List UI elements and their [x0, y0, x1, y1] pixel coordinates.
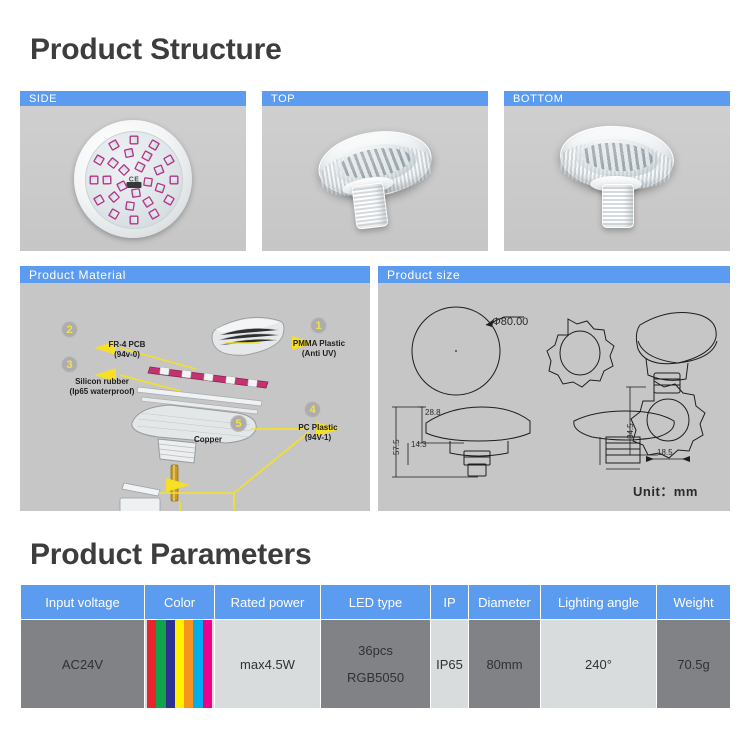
part-bottom-contacts — [120, 483, 160, 511]
material-label-silicon-rubber: Silicon rubber (Ip65 waterproof) — [44, 377, 160, 398]
value-color-swatches — [145, 620, 215, 709]
page-title-product-structure: Product Structure — [30, 33, 282, 67]
product-parameters-table: Input voltage Color Rated power LED type… — [20, 584, 731, 709]
panel-caption-side-label: SIDE — [29, 93, 57, 105]
led-chip — [162, 153, 174, 165]
size-drawing-graphics — [378, 283, 730, 511]
dimension-14-3: 14.3 — [411, 440, 427, 449]
side-elevation-drawing — [426, 407, 530, 476]
part-fr4-pcb — [148, 367, 268, 388]
panel-caption-product-material: Product Material — [20, 266, 370, 283]
column-header-input-voltage: Input voltage — [21, 585, 145, 620]
technical-drawing-panel: Φ80.00 57.5 28.8 14.3 34.5 18.5 Unit：mm — [378, 283, 730, 511]
column-header-color: Color — [145, 585, 215, 620]
color-swatch-4 — [175, 620, 184, 708]
value-input-voltage: AC24V — [21, 620, 145, 709]
led-puck-top-view — [316, 128, 436, 238]
panel-caption-material-label: Product Material — [29, 268, 126, 282]
dimension-18-5: 18.5 — [657, 448, 673, 457]
gear-ring-top-view — [547, 319, 614, 387]
value-led-model: RGB5050 — [323, 664, 428, 691]
led-disc-front-view: CE — [20, 106, 246, 251]
led-chip — [107, 191, 120, 204]
column-header-diameter: Diameter — [469, 585, 541, 620]
color-swatch-strip — [147, 620, 212, 708]
led-chip — [125, 201, 135, 211]
led-chip — [93, 193, 105, 205]
panel-caption-side: SIDE — [20, 91, 246, 106]
exploded-material-diagram: 1 2 3 4 5 PMMA Plastic (Anti UV) FR-4 PC… — [20, 283, 370, 511]
dimension-57-5: 57.5 — [392, 439, 401, 455]
color-swatch-1 — [147, 620, 156, 708]
perspective-puck-drawing — [636, 313, 717, 393]
page-title-product-parameters: Product Parameters — [30, 538, 312, 572]
led-chip — [129, 215, 138, 224]
puck-screw-stem — [351, 182, 388, 230]
led-chip — [123, 148, 134, 159]
led-chip — [93, 153, 105, 165]
value-rated-power: max4.5W — [215, 620, 321, 709]
led-chip — [102, 176, 111, 185]
panel-caption-size-label: Product size — [387, 268, 460, 282]
color-swatch-6 — [193, 620, 202, 708]
material-label-pmma: PMMA Plastic (Anti UV) — [269, 339, 369, 360]
color-swatch-2 — [156, 620, 165, 708]
color-swatch-7 — [203, 620, 212, 708]
column-header-ip: IP — [431, 585, 469, 620]
part-pc-housing — [132, 405, 256, 463]
led-chip — [142, 196, 154, 208]
panel-caption-top-label: TOP — [271, 93, 295, 105]
led-chip — [170, 175, 179, 184]
panel-caption-top: TOP — [262, 91, 488, 106]
column-header-rated-power: Rated power — [215, 585, 321, 620]
table-header-row: Input voltage Color Rated power LED type… — [21, 585, 731, 620]
value-ip-rating: IP65 — [431, 620, 469, 709]
value-lighting-angle: 240° — [541, 620, 657, 709]
material-badge-3: 3 — [61, 356, 78, 373]
led-puck-bottom-view — [560, 124, 680, 239]
product-photo-side: CE — [20, 106, 246, 251]
material-label-copper: Copper — [178, 435, 238, 445]
color-swatch-5 — [184, 620, 193, 708]
value-led-type: 36pcs RGB5050 — [321, 620, 431, 709]
column-header-weight: Weight — [657, 585, 731, 620]
led-chip — [89, 175, 98, 184]
dimension-34-5: 34.5 — [626, 423, 635, 439]
value-diameter: 80mm — [469, 620, 541, 709]
color-swatch-3 — [166, 620, 175, 708]
unit-label: Unit：mm — [633, 481, 698, 500]
led-chip — [148, 139, 160, 151]
panel-caption-product-size: Product size — [378, 266, 730, 283]
led-chip — [143, 176, 153, 186]
panel-caption-bottom: BOTTOM — [504, 91, 730, 106]
led-chip — [162, 193, 174, 205]
material-label-fr4-pcb: FR-4 PCB (94v-0) — [87, 340, 167, 361]
dimension-diameter: Φ80.00 — [492, 316, 528, 328]
led-chip — [118, 163, 131, 176]
value-led-count: 36pcs — [323, 637, 428, 664]
led-chip — [148, 208, 160, 220]
led-chip — [108, 208, 120, 220]
product-spec-page: Product Structure SIDE CE TOP BOTTOM — [0, 0, 750, 750]
table-row: AC24V max4.5W 36pcs RGB5050 IP65 80mm 24… — [21, 620, 731, 709]
product-photo-top — [262, 106, 488, 251]
material-label-pc-plastic: PC Plastic (94V-1) — [270, 423, 366, 444]
material-badge-5: 5 — [230, 415, 247, 432]
led-chip — [129, 135, 138, 144]
led-chip — [154, 182, 165, 193]
material-badge-1: 1 — [310, 317, 327, 334]
product-photo-bottom — [504, 106, 730, 251]
panel-caption-bottom-label: BOTTOM — [513, 93, 563, 105]
led-chip — [153, 164, 165, 176]
value-weight: 70.5g — [657, 620, 731, 709]
led-chip — [141, 150, 153, 162]
led-chip — [108, 139, 120, 151]
column-header-led-type: LED type — [321, 585, 431, 620]
led-chip — [134, 161, 146, 173]
column-header-lighting-angle: Lighting angle — [541, 585, 657, 620]
led-chip — [106, 156, 119, 169]
puck-screw-stem — [602, 184, 634, 228]
led-chip — [131, 188, 141, 198]
material-badge-2: 2 — [61, 321, 78, 338]
lamp-pcb-face: CE — [85, 131, 183, 229]
material-badge-4: 4 — [304, 401, 321, 418]
dimension-28-8: 28.8 — [425, 408, 441, 417]
